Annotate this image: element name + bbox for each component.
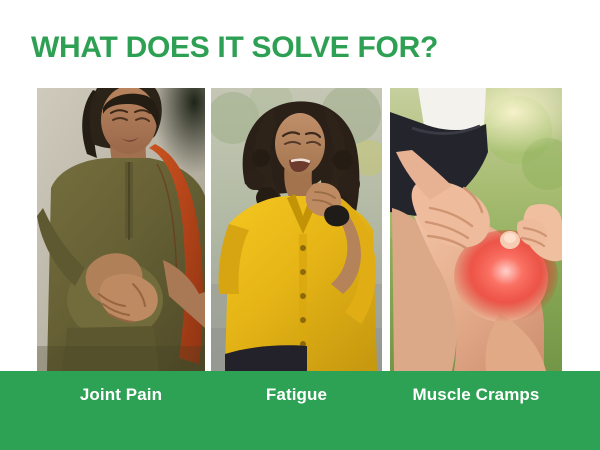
page-title: WHAT DOES IT SOLVE FOR? — [31, 31, 438, 65]
fatigue-neck-photo — [211, 88, 382, 371]
photo-card-joint-pain — [37, 88, 205, 371]
photo-card-fatigue — [211, 88, 382, 371]
slide-canvas: WHAT DOES IT SOLVE FOR? — [0, 0, 600, 450]
footer-band: Joint Pain Fatigue Muscle Cramps — [0, 371, 600, 450]
label-muscle-cramps: Muscle Cramps — [390, 384, 562, 406]
joint-pain-knee-photo — [37, 88, 205, 371]
photo-card-muscle-cramps — [390, 88, 562, 371]
label-fatigue: Fatigue — [211, 384, 382, 406]
photo-strip — [37, 88, 562, 371]
label-joint-pain: Joint Pain — [37, 384, 205, 406]
muscle-cramps-leg-photo — [390, 88, 562, 371]
